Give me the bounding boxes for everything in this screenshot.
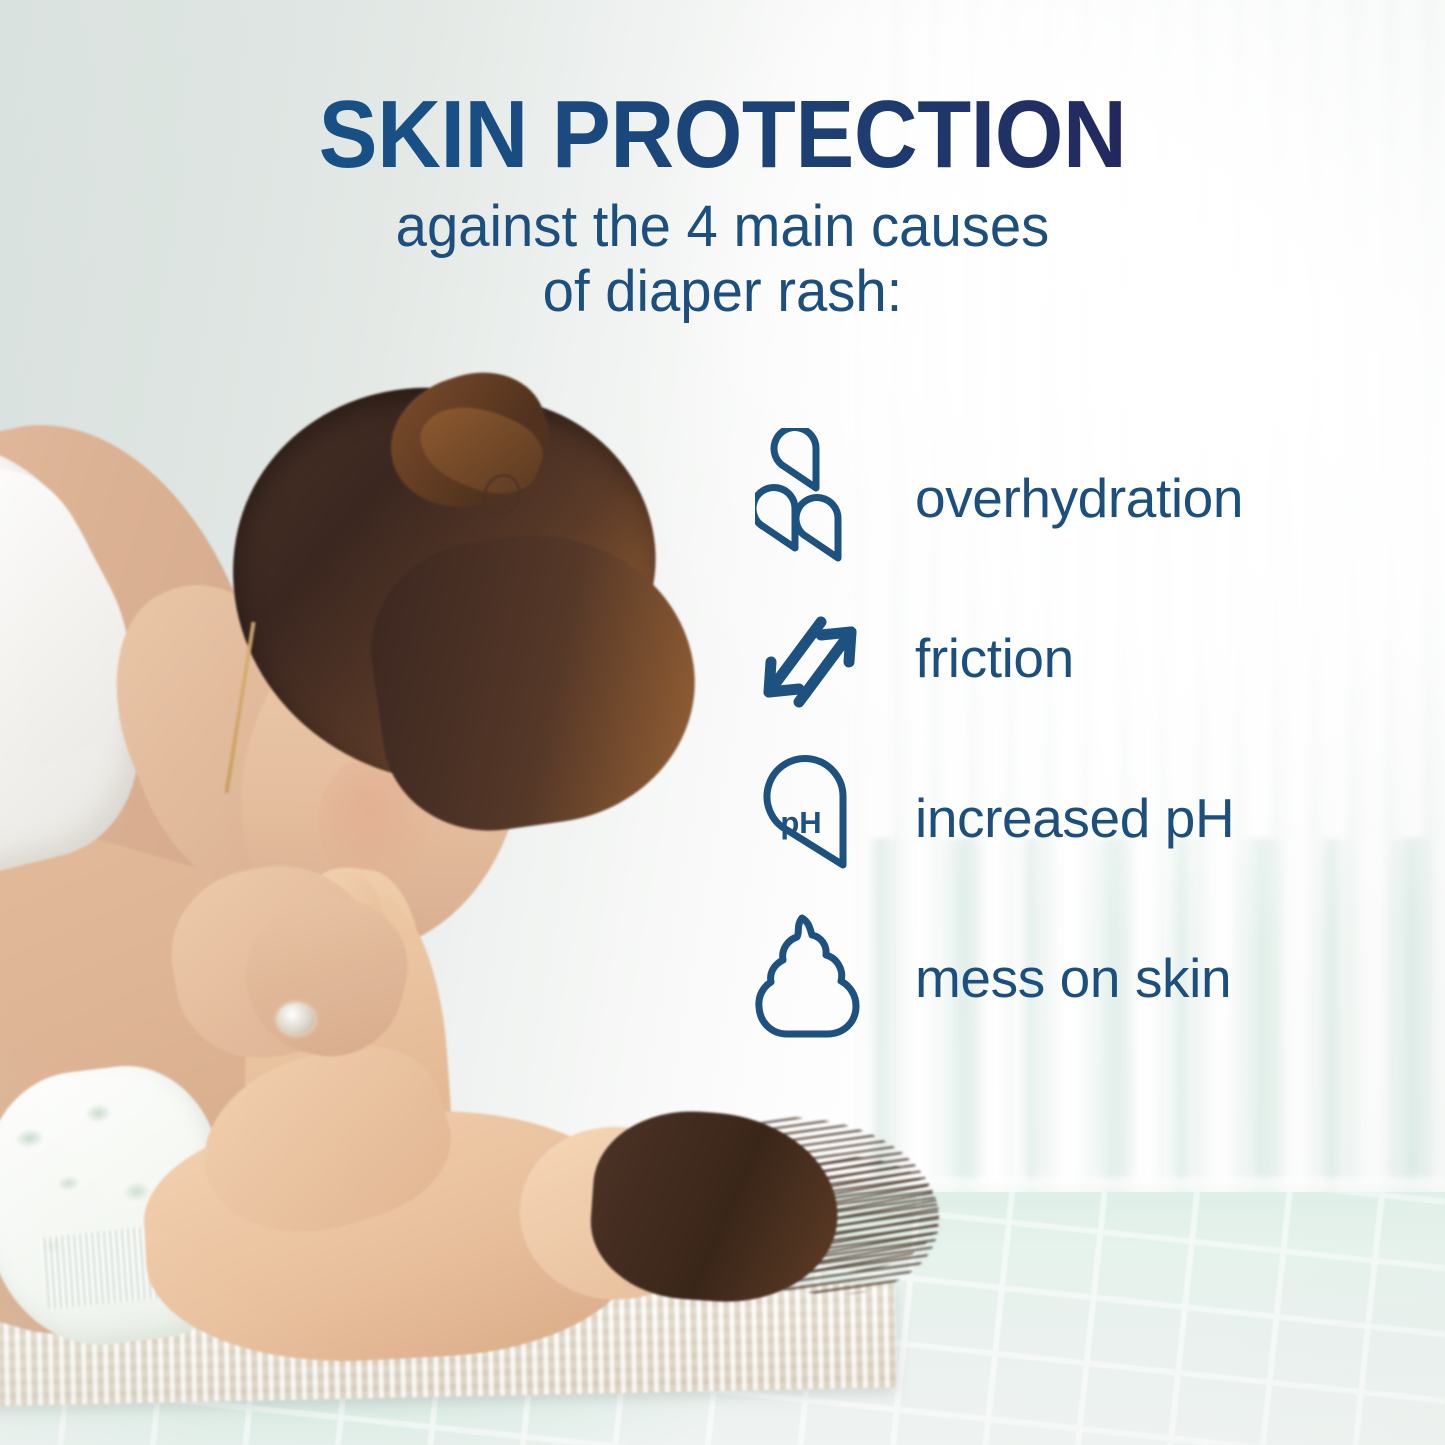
cause-label-overhydration: overhydration xyxy=(915,466,1243,530)
double-diagonal-arrows-icon xyxy=(755,583,873,733)
cause-item-overhydration: overhydration xyxy=(755,418,1395,578)
stool-mess-icon xyxy=(755,903,873,1053)
infographic-canvas: SKIN PROTECTION against the 4 main cause… xyxy=(0,0,1445,1445)
ph-droplet-text: pH xyxy=(780,805,821,840)
cause-label-friction: friction xyxy=(915,626,1074,690)
cause-item-mess-on-skin: mess on skin xyxy=(755,898,1395,1058)
causes-list: overhydration friction xyxy=(755,418,1395,1058)
cause-item-friction: friction xyxy=(755,578,1395,738)
three-water-droplets-icon xyxy=(755,423,873,573)
ph-droplet-icon: pH xyxy=(755,743,873,893)
cause-label-increased-ph: increased pH xyxy=(915,786,1234,850)
cause-label-mess-on-skin: mess on skin xyxy=(915,946,1231,1010)
cause-item-increased-ph: pH increased pH xyxy=(755,738,1395,898)
